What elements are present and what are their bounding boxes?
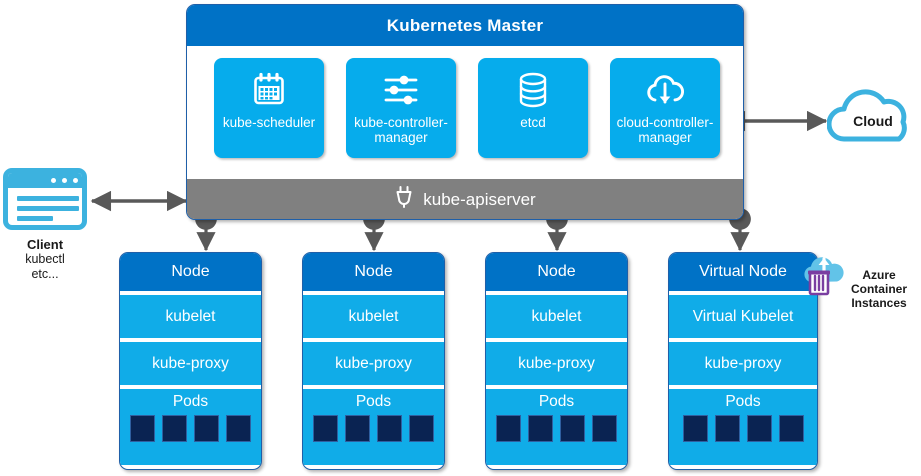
component-label: kube-controller-manager <box>346 115 456 145</box>
client-caption: Client kubectl etc... <box>3 237 87 282</box>
node-header: Node <box>120 253 261 291</box>
node-segment-kubelet: kubelet <box>486 295 627 338</box>
pods-row <box>313 415 434 442</box>
pods-row <box>130 415 251 442</box>
component-etcd[interactable]: etcd <box>478 58 588 158</box>
browser-content-line <box>17 216 53 221</box>
pod <box>194 415 219 442</box>
calendar-icon <box>249 69 289 111</box>
aci-label-line2: Container <box>837 282 921 296</box>
master-title: Kubernetes Master <box>187 5 743 46</box>
node-header: Virtual Node <box>669 253 817 291</box>
pod <box>683 415 708 442</box>
node-segment-kube-proxy: kube-proxy <box>120 342 261 385</box>
cloud-label: Cloud <box>827 82 919 152</box>
node-1[interactable]: Node kubelet kube-proxy Pods <box>302 252 445 470</box>
client-line-kubectl: kubectl <box>3 252 87 267</box>
pods-label: Pods <box>356 392 391 411</box>
browser-dot <box>73 178 78 183</box>
browser-window-icon <box>3 168 87 230</box>
diagram-canvas: Kubernetes Master kube-apiserver <box>0 0 921 476</box>
pod <box>528 415 553 442</box>
kube-apiserver-bar[interactable]: kube-apiserver <box>187 179 743 219</box>
client-group: Client kubectl etc... <box>3 168 95 282</box>
node-pods-section: Pods <box>303 389 444 465</box>
node-header: Node <box>303 253 444 291</box>
node-pods-section: Pods <box>486 389 627 465</box>
node-virtual[interactable]: Virtual Node Virtual Kubelet kube-proxy … <box>668 252 818 470</box>
aci-label-line1: Azure <box>837 268 921 282</box>
component-kube-scheduler[interactable]: kube-scheduler <box>214 58 324 158</box>
browser-content-line <box>17 206 79 211</box>
pod <box>226 415 251 442</box>
browser-dot <box>62 178 67 183</box>
pod <box>496 415 521 442</box>
browser-dot <box>51 178 56 183</box>
browser-titlebar <box>8 173 82 188</box>
component-kube-controller-manager[interactable]: kube-controller-manager <box>346 58 456 158</box>
plug-icon <box>394 186 414 213</box>
browser-content-line <box>17 196 79 201</box>
node-pods-section: Pods <box>669 389 817 465</box>
node-segment-kubelet: kubelet <box>303 295 444 338</box>
client-line-etc: etc... <box>3 267 87 282</box>
aci-label-line3: Instances <box>837 296 921 310</box>
pod <box>779 415 804 442</box>
component-label: etcd <box>516 115 550 130</box>
component-cloud-controller-manager[interactable]: cloud-controller-manager <box>610 58 720 158</box>
pod <box>592 415 617 442</box>
sliders-icon <box>380 69 422 111</box>
pods-label: Pods <box>725 392 760 411</box>
pods-label: Pods <box>173 392 208 411</box>
node-segment-kube-proxy: kube-proxy <box>303 342 444 385</box>
node-pods-section: Pods <box>120 389 261 465</box>
pods-row <box>683 415 804 442</box>
pod <box>747 415 772 442</box>
kube-apiserver-label: kube-apiserver <box>423 191 535 208</box>
pods-row <box>496 415 617 442</box>
cloud-group: Cloud <box>827 82 919 152</box>
database-icon <box>514 69 552 111</box>
component-label: cloud-controller-manager <box>610 115 720 145</box>
pod <box>560 415 585 442</box>
node-header: Node <box>486 253 627 291</box>
aci-caption: Azure Container Instances <box>837 268 921 310</box>
node-segment-kube-proxy: kube-proxy <box>669 342 817 385</box>
pod <box>313 415 338 442</box>
pod <box>409 415 434 442</box>
pod <box>377 415 402 442</box>
pod <box>162 415 187 442</box>
pods-label: Pods <box>539 392 574 411</box>
client-title: Client <box>3 237 87 252</box>
node-0[interactable]: Node kubelet kube-proxy Pods <box>119 252 262 470</box>
node-2[interactable]: Node kubelet kube-proxy Pods <box>485 252 628 470</box>
component-label: kube-scheduler <box>219 115 319 130</box>
pod <box>715 415 740 442</box>
node-segment-virtual-kubelet: Virtual Kubelet <box>669 295 817 338</box>
node-segment-kubelet: kubelet <box>120 295 261 338</box>
pod <box>345 415 370 442</box>
cloud-download-icon <box>644 69 686 111</box>
node-segment-kube-proxy: kube-proxy <box>486 342 627 385</box>
pod <box>130 415 155 442</box>
